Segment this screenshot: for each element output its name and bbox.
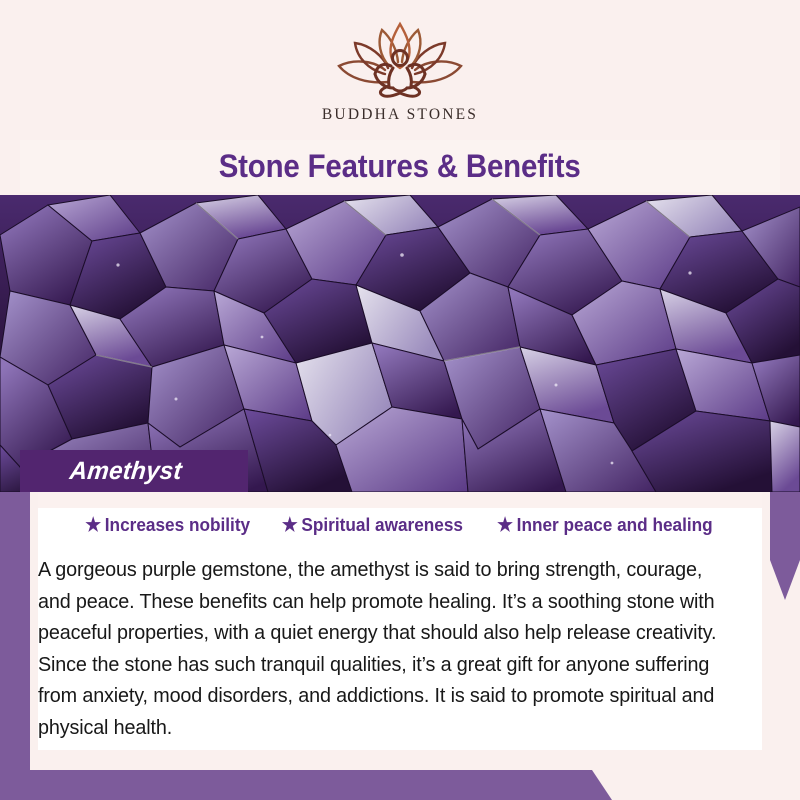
stone-description: A gorgeous purple gemstone, the amethyst… xyxy=(38,554,737,743)
stone-name-banner: Amethyst xyxy=(20,450,248,492)
benefits-list: ★ Increases nobility ★ Spiritual awarene… xyxy=(38,514,762,536)
stone-details-panel: ★ Increases nobility ★ Spiritual awarene… xyxy=(38,492,762,750)
lotus-meditation-icon xyxy=(325,18,475,104)
brand-name: BUDDHA STONES xyxy=(322,106,478,124)
benefit-item: ★ Inner peace and healing xyxy=(497,514,713,536)
benefit-label: Increases nobility xyxy=(105,514,250,536)
brand-logo: BUDDHA STONES xyxy=(322,18,478,124)
star-icon: ★ xyxy=(282,516,298,535)
benefit-item: ★ Increases nobility xyxy=(85,514,250,536)
benefit-item: ★ Spiritual awareness xyxy=(282,514,463,536)
title-band: Stone Features & Benefits xyxy=(20,140,780,192)
stone-name: Amethyst xyxy=(68,457,183,486)
star-icon: ★ xyxy=(497,516,513,535)
star-icon: ★ xyxy=(85,516,101,535)
amethyst-photo-graphic xyxy=(0,195,800,492)
benefit-label: Spiritual awareness xyxy=(302,514,464,536)
stone-info-card: BUDDHA STONES Stone Features & Benefits xyxy=(0,0,800,800)
page-title: Stone Features & Benefits xyxy=(219,148,581,185)
panel-top-tint xyxy=(38,492,762,508)
amethyst-photo xyxy=(0,195,800,492)
benefit-label: Inner peace and healing xyxy=(517,514,713,536)
